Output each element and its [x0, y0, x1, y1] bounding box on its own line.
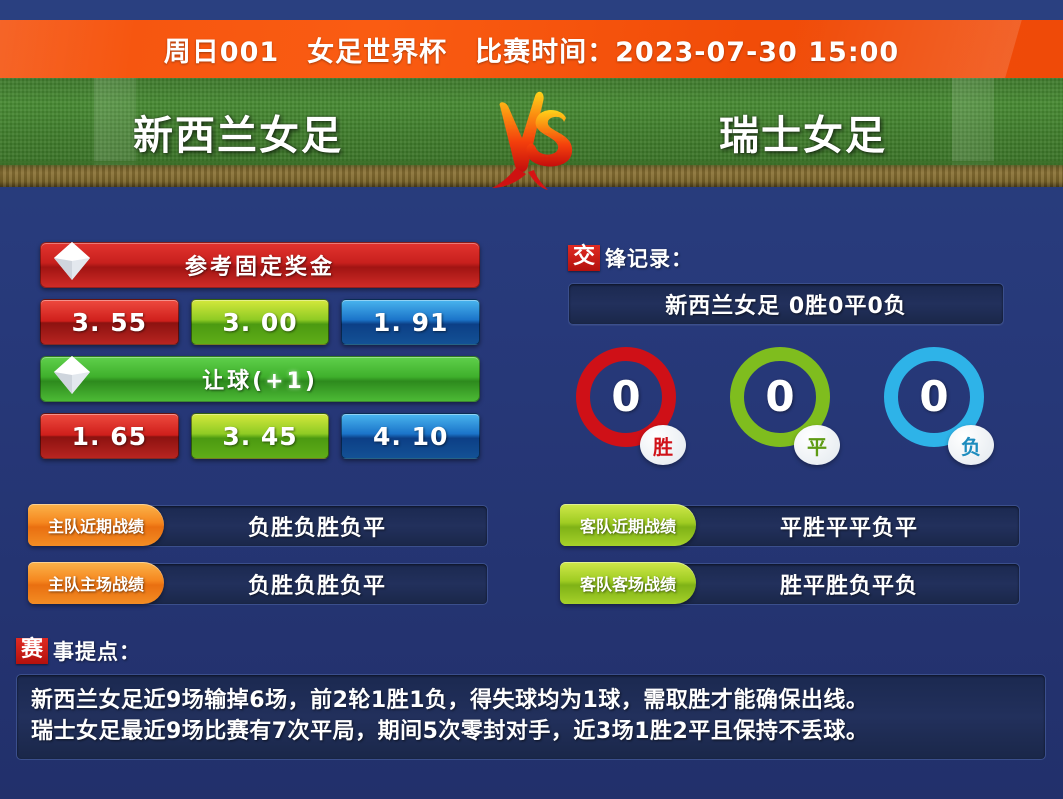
- h2h-rings: 0 胜 0 平 0 负: [568, 347, 1004, 465]
- away-recent-form-tab: 客队近期战绩: [560, 504, 696, 546]
- match-header-bar: 周日001 女足世界杯 比赛时间：2023-07-30 15:00: [0, 20, 1063, 78]
- ring-value-lose: 0: [919, 376, 948, 418]
- home-home-form-tab: 主队主场战绩: [28, 562, 164, 604]
- handicap-value: +1: [265, 369, 305, 394]
- analysis-panel: 赛 事提点： 新西兰女足近9场输掉6场，前2轮1胜1负，得失球均为1球，需取胜才…: [16, 636, 1046, 760]
- head-to-head-panel: 交 锋记录： 新西兰女足 0胜0平0负 0 胜 0 平 0 负: [568, 243, 1004, 465]
- h2h-summary: 新西兰女足 0胜0平0负: [568, 283, 1004, 325]
- h2h-title-text: 锋记录：: [605, 243, 693, 273]
- home-recent-form-value: 负胜负胜负平: [146, 505, 488, 547]
- h2h-ring-draw: 0 平: [730, 347, 842, 465]
- fixed-odd-draw[interactable]: 3. 00: [191, 299, 330, 345]
- fixed-odd-lose[interactable]: 1. 91: [341, 299, 480, 345]
- h2h-badge: 交: [568, 245, 600, 271]
- home-home-form-value: 负胜负胜负平: [146, 563, 488, 605]
- fixed-bonus-header: 参考固定奖金: [40, 242, 480, 288]
- analysis-badge: 赛: [16, 638, 48, 664]
- analysis-line-2: 瑞士女足最近9场比赛有7次平局，期间5次零封对手，近3场1胜2平且保持不丢球。: [31, 716, 1031, 747]
- away-form-column: 客队近期战绩 平胜平平负平 客队客场战绩 胜平胜负平负: [560, 505, 1020, 621]
- diamond-gem-icon: [49, 238, 95, 284]
- handicap-odds-row: 1. 65 3. 45 4. 10: [40, 413, 480, 459]
- h2h-section-title: 交 锋记录：: [568, 243, 1004, 273]
- handicap-label-end: ): [305, 369, 318, 394]
- match-header-title: 周日001 女足世界杯 比赛时间：2023-07-30 15:00: [164, 30, 899, 69]
- handicap-label: 让球(+1): [202, 363, 318, 395]
- fixed-odd-win[interactable]: 3. 55: [40, 299, 179, 345]
- ring-label-win: 胜: [640, 425, 686, 465]
- ring-value-draw: 0: [765, 376, 794, 418]
- home-team-name: 新西兰女足: [133, 103, 343, 161]
- away-recent-form-row: 客队近期战绩 平胜平平负平: [560, 505, 1020, 545]
- handicap-header: 让球(+1): [40, 356, 480, 402]
- handicap-odd-win[interactable]: 1. 65: [40, 413, 179, 459]
- home-recent-form-row: 主队近期战绩 负胜负胜负平: [28, 505, 488, 545]
- away-team-name: 瑞士女足: [719, 103, 887, 161]
- home-recent-form-tab: 主队近期战绩: [28, 504, 164, 546]
- h2h-ring-win: 0 胜: [576, 347, 688, 465]
- fixed-bonus-label: 参考固定奖金: [185, 249, 335, 281]
- ring-value-win: 0: [611, 376, 640, 418]
- analysis-section-title: 赛 事提点：: [16, 636, 1046, 666]
- home-form-column: 主队近期战绩 负胜负胜负平 主队主场战绩 负胜负胜负平: [28, 505, 488, 621]
- away-recent-form-value: 平胜平平负平: [678, 505, 1020, 547]
- fixed-bonus-odds-row: 3. 55 3. 00 1. 91: [40, 299, 480, 345]
- h2h-ring-lose: 0 负: [884, 347, 996, 465]
- match-preview-screen: 周日001 女足世界杯 比赛时间：2023-07-30 15:00 新西兰女足 …: [0, 0, 1063, 799]
- ring-label-lose: 负: [948, 425, 994, 465]
- away-away-form-value: 胜平胜负平负: [678, 563, 1020, 605]
- handicap-label-text: 让球(: [202, 369, 265, 394]
- odds-panel: 参考固定奖金 3. 55 3. 00 1. 91 让球(+1) 1. 65 3.…: [40, 242, 480, 470]
- analysis-title-text: 事提点：: [53, 636, 141, 666]
- diamond-gem-icon: [49, 352, 95, 398]
- analysis-box: 新西兰女足近9场输掉6场，前2轮1胜1负，得失球均为1球，需取胜才能确保出线。 …: [16, 674, 1046, 760]
- ring-label-draw: 平: [794, 425, 840, 465]
- home-home-form-row: 主队主场战绩 负胜负胜负平: [28, 563, 488, 603]
- away-away-form-row: 客队客场战绩 胜平胜负平负: [560, 563, 1020, 603]
- away-away-form-tab: 客队客场战绩: [560, 562, 696, 604]
- analysis-line-1: 新西兰女足近9场输掉6场，前2轮1胜1负，得失球均为1球，需取胜才能确保出线。: [31, 685, 1031, 716]
- vs-flame-icon: [478, 88, 586, 193]
- handicap-odd-draw[interactable]: 3. 45: [191, 413, 330, 459]
- handicap-odd-lose[interactable]: 4. 10: [341, 413, 480, 459]
